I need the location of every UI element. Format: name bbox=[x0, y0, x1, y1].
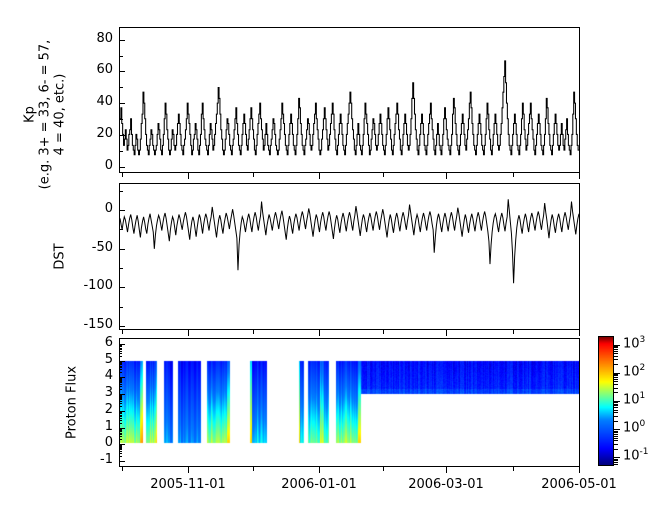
flux-tickmark-minor bbox=[119, 367, 122, 368]
dst-tickmark-minor bbox=[119, 229, 123, 230]
dst-tick--150: -150 bbox=[83, 317, 113, 332]
x-tickmark-minor bbox=[253, 467, 254, 471]
flux-tickmark-minor bbox=[119, 451, 122, 452]
flux-tick-1: 1 bbox=[105, 419, 113, 434]
dst-axis-label: DST bbox=[53, 237, 68, 277]
colorbar-tick-10^-1: 10-1 bbox=[623, 447, 649, 463]
colorbar-tickmark-minor bbox=[614, 402, 618, 403]
x-tickmark-minor bbox=[513, 467, 514, 471]
flux-tickmark-minor bbox=[119, 378, 122, 379]
panel-x-tickmark-minor bbox=[383, 330, 384, 334]
panel-x-tickmark-minor bbox=[253, 173, 254, 177]
dst-tickmark-major bbox=[119, 287, 125, 288]
colorbar-tickmark-minor bbox=[614, 346, 618, 347]
flux-tickmark-minor bbox=[119, 345, 122, 346]
kp-tickmark-major bbox=[119, 135, 125, 136]
flux-tickmark-minor bbox=[119, 439, 122, 440]
kp-tickmark-minor bbox=[119, 56, 123, 57]
flux-tick-0: 0 bbox=[105, 435, 113, 450]
flux-tickmark-minor bbox=[119, 351, 122, 352]
colorbar-tickmark-minor bbox=[614, 462, 618, 463]
colorbar-gradient bbox=[599, 337, 613, 465]
kp-tick-60: 60 bbox=[96, 62, 113, 77]
flux-tickmark-minor bbox=[119, 346, 122, 347]
flux-tickmark-minor bbox=[119, 436, 122, 437]
kp-axis-label: Kp (e.g. 3+ = 33, 6- = 57, 4 = 40, etc.) bbox=[23, 35, 68, 195]
flux-tickmark-minor bbox=[119, 429, 122, 430]
flux-tickmark-minor bbox=[119, 456, 122, 457]
x-tickmark-minor bbox=[383, 467, 384, 471]
flux-tickmark-minor bbox=[119, 420, 122, 421]
colorbar-tickmark-minor bbox=[614, 412, 618, 413]
colorbar-tickmark-minor bbox=[614, 388, 618, 389]
flux-tickmark-minor bbox=[119, 453, 122, 454]
dst-tick--100: -100 bbox=[83, 278, 113, 293]
kp-tick-20: 20 bbox=[96, 126, 113, 141]
colorbar-tickmark-minor bbox=[614, 359, 618, 360]
panel-x-tickmark-minor bbox=[122, 173, 123, 177]
kp-tickmark-major bbox=[119, 40, 125, 41]
dst-tickmark-major bbox=[119, 249, 125, 250]
colorbar-tickmark-minor bbox=[614, 374, 618, 375]
x-tickmark-major bbox=[188, 467, 189, 473]
flux-tickmark-minor bbox=[119, 434, 122, 435]
dst-tickmark-major bbox=[119, 326, 125, 327]
dst-series-plot bbox=[120, 184, 579, 329]
x-tickmark-major bbox=[579, 467, 580, 473]
flux-tickmark-minor bbox=[119, 382, 122, 383]
flux-tickmark-minor bbox=[119, 396, 122, 397]
kp-tick-40: 40 bbox=[96, 94, 113, 109]
flux-tickmark-minor bbox=[119, 361, 122, 362]
flux-tickmark-minor bbox=[119, 433, 122, 434]
flux-tickmark-minor bbox=[119, 380, 122, 381]
panel-x-tickmark bbox=[446, 173, 447, 179]
flux-tickmark-minor bbox=[119, 401, 122, 402]
x-tick-2006-03-01: 2006-03-01 bbox=[391, 477, 501, 492]
flux-tickmark-minor bbox=[119, 386, 122, 387]
flux-tickmark-major bbox=[119, 461, 125, 462]
flux-tickmark-minor bbox=[119, 372, 122, 373]
colorbar-tickmark-minor bbox=[614, 384, 618, 385]
colorbar-tickmark-minor bbox=[614, 421, 618, 422]
flux-tick-6: 6 bbox=[105, 335, 113, 350]
dst-tickmark-minor bbox=[119, 307, 123, 308]
flux-tickmark-minor bbox=[119, 447, 122, 448]
kp-tick-0: 0 bbox=[105, 158, 113, 173]
flux-tickmark-minor bbox=[119, 397, 122, 398]
panel-x-tickmark-minor bbox=[513, 330, 514, 334]
colorbar-tickmark-minor bbox=[614, 438, 618, 439]
colorbar-tick-10^2: 102 bbox=[623, 363, 645, 379]
colorbar-tickmark-minor bbox=[614, 432, 618, 433]
flux-tickmark-minor bbox=[119, 384, 122, 385]
colorbar-tickmark-minor bbox=[614, 436, 618, 437]
colorbar bbox=[598, 336, 614, 466]
panel-x-tickmark bbox=[319, 173, 320, 179]
colorbar-tickmark-minor bbox=[614, 416, 618, 417]
colorbar-tickmark-minor bbox=[614, 356, 618, 357]
flux-tickmark-minor bbox=[119, 348, 122, 349]
flux-tickmark-minor bbox=[119, 412, 122, 413]
colorbar-tickmark-minor bbox=[614, 379, 618, 380]
colorbar-tickmark-minor bbox=[614, 434, 618, 435]
kp-tickmark-minor bbox=[119, 87, 123, 88]
kp-tickmark-major bbox=[119, 71, 125, 72]
flux-tickmark-minor bbox=[119, 399, 122, 400]
panel-x-tickmark bbox=[446, 330, 447, 336]
colorbar-tickmark-minor bbox=[614, 405, 618, 406]
flux-tickmark-minor bbox=[119, 364, 122, 365]
flux-tickmark-minor bbox=[119, 418, 122, 419]
colorbar-tickmark-minor bbox=[614, 353, 618, 354]
flux-tickmark-minor bbox=[119, 415, 122, 416]
flux-tickmark-minor bbox=[119, 398, 122, 399]
colorbar-tickmark-minor bbox=[614, 347, 618, 348]
flux-tickmark-minor bbox=[119, 431, 122, 432]
flux-tickmark-minor bbox=[119, 416, 122, 417]
colorbar-tickmark-minor bbox=[614, 410, 618, 411]
panel-x-tickmark-minor bbox=[122, 330, 123, 334]
colorbar-tickmark-minor bbox=[614, 444, 618, 445]
x-tick-2005-11-01: 2005-11-01 bbox=[133, 477, 243, 492]
flux-tickmark-minor bbox=[119, 353, 122, 354]
proton-flux-axis-label: Proton Flux bbox=[65, 358, 80, 448]
panel-x-tickmark bbox=[579, 330, 580, 336]
dst-tickmark-minor bbox=[119, 268, 123, 269]
flux-tickmark-minor bbox=[119, 379, 122, 380]
colorbar-tickmark-minor bbox=[614, 459, 618, 460]
colorbar-tick-10^3: 103 bbox=[623, 335, 645, 351]
panel-x-tickmark bbox=[188, 173, 189, 179]
flux-tick-3: 3 bbox=[105, 385, 113, 400]
flux-tickmark-minor bbox=[119, 389, 122, 390]
colorbar-tick-10^1: 101 bbox=[623, 391, 645, 407]
flux-tickmark-minor bbox=[119, 356, 122, 357]
kp-axis-label-line2: (e.g. 3+ = 33, 6- = 57, 4 = 40, etc.) bbox=[38, 35, 68, 195]
panel-x-tickmark-minor bbox=[253, 330, 254, 334]
flux-tickmark-minor bbox=[119, 423, 122, 424]
dst-tick-0: 0 bbox=[105, 201, 113, 216]
dst-tickmark-minor bbox=[119, 191, 123, 192]
colorbar-tickmark-minor bbox=[614, 377, 618, 378]
flux-tickmark-minor bbox=[119, 366, 122, 367]
panel-x-tickmark-minor bbox=[383, 173, 384, 177]
kp-panel bbox=[119, 27, 580, 173]
colorbar-tickmark-minor bbox=[614, 404, 618, 405]
flux-tickmark-minor bbox=[119, 403, 122, 404]
dst-tick--50: -50 bbox=[92, 240, 113, 255]
kp-tickmark-minor bbox=[119, 151, 123, 152]
kp-series-plot bbox=[120, 28, 579, 172]
colorbar-tickmark-minor bbox=[614, 375, 618, 376]
panel-x-tickmark bbox=[188, 330, 189, 336]
flux-tickmark-minor bbox=[119, 395, 122, 396]
flux-tickmark-minor bbox=[119, 430, 122, 431]
colorbar-tickmark-minor bbox=[614, 431, 618, 432]
colorbar-tickmark-minor bbox=[614, 449, 618, 450]
panel-x-tickmark-minor bbox=[513, 173, 514, 177]
colorbar-tickmark-minor bbox=[614, 407, 618, 408]
flux-tickmark-minor bbox=[119, 448, 122, 449]
panel-x-tickmark bbox=[579, 173, 580, 179]
flux-tickmark-minor bbox=[119, 349, 122, 350]
colorbar-tickmark-minor bbox=[614, 460, 618, 461]
colorbar-tickmark-minor bbox=[614, 392, 618, 393]
colorbar-tickmark-minor bbox=[614, 381, 618, 382]
flux-tickmark-minor bbox=[119, 428, 122, 429]
x-tick-2006-01-01: 2006-01-01 bbox=[264, 477, 374, 492]
x-tickmark-major bbox=[319, 467, 320, 473]
flux-tick--1: -1 bbox=[100, 452, 113, 467]
colorbar-tickmark-minor bbox=[614, 464, 618, 465]
x-tick-2006-05-01: 2006-05-01 bbox=[524, 477, 634, 492]
flux-tick-4: 4 bbox=[105, 368, 113, 383]
flux-tickmark-minor bbox=[119, 362, 122, 363]
x-tickmark-major bbox=[446, 467, 447, 473]
dst-panel bbox=[119, 183, 580, 330]
dst-trace bbox=[120, 199, 579, 283]
colorbar-tickmark-minor bbox=[614, 349, 618, 350]
flux-tickmark-minor bbox=[119, 406, 122, 407]
flux-tickmark-minor bbox=[119, 446, 122, 447]
flux-tickmark-minor bbox=[119, 449, 122, 450]
flux-tickmark-minor bbox=[119, 413, 122, 414]
kp-tickmark-minor bbox=[119, 119, 123, 120]
figure-canvas: 020406080 Kp (e.g. 3+ = 33, 6- = 57, 4 =… bbox=[0, 0, 665, 523]
kp-tick-80: 80 bbox=[96, 31, 113, 46]
colorbar-tickmark-minor bbox=[614, 440, 618, 441]
kp-axis-label-line1: Kp bbox=[23, 35, 38, 195]
kp-trace bbox=[120, 61, 579, 155]
panel-x-tickmark bbox=[319, 330, 320, 336]
kp-tickmark-major bbox=[119, 103, 125, 104]
flux-tickmark-minor bbox=[119, 363, 122, 364]
colorbar-tickmark-minor bbox=[614, 364, 618, 365]
kp-tickmark-major bbox=[119, 167, 125, 168]
flux-tick-2: 2 bbox=[105, 402, 113, 417]
flux-tickmark-minor bbox=[119, 369, 122, 370]
flux-tickmark-minor bbox=[119, 381, 122, 382]
dst-tickmark-major bbox=[119, 210, 125, 211]
colorbar-tick-10^0: 100 bbox=[623, 419, 645, 435]
flux-tickmark-minor bbox=[119, 445, 122, 446]
flux-tick-5: 5 bbox=[105, 352, 113, 367]
proton-flux-panel bbox=[119, 338, 580, 467]
colorbar-tickmark-minor bbox=[614, 351, 618, 352]
proton-flux-spectrogram bbox=[120, 339, 579, 466]
x-tickmark-minor bbox=[122, 467, 123, 471]
